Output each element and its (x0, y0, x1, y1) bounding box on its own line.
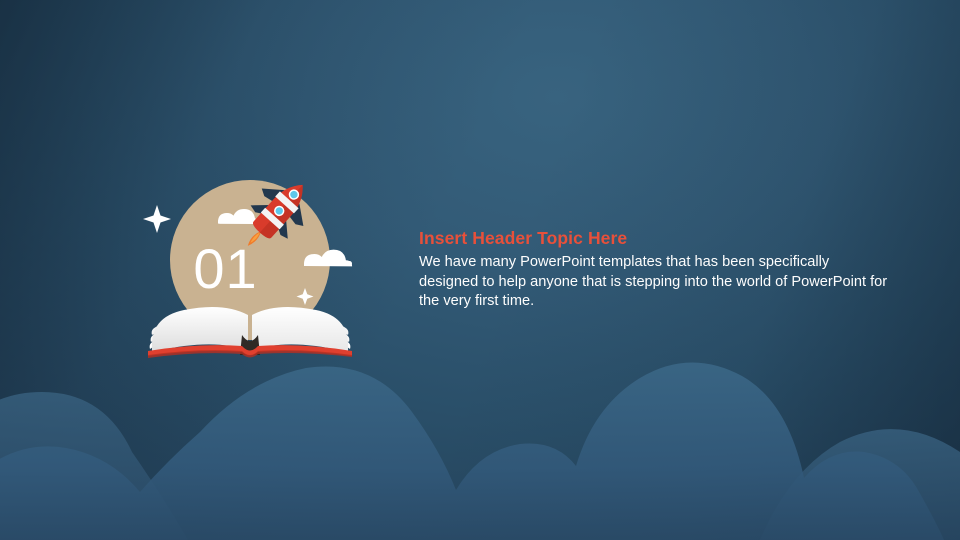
illustration-group: 01 (138, 165, 363, 370)
step-number: 01 (138, 241, 313, 297)
star-large-left-icon (143, 205, 171, 233)
body-paragraph: We have many PowerPoint templates that h… (419, 253, 889, 312)
cloud-bank-main (0, 362, 944, 540)
page-title: Insert Header Topic Here (419, 228, 889, 249)
presentation-slide: 01 Insert Header Topic Here We have many… (0, 0, 960, 540)
text-content-block: Insert Header Topic Here We have many Po… (419, 228, 889, 312)
